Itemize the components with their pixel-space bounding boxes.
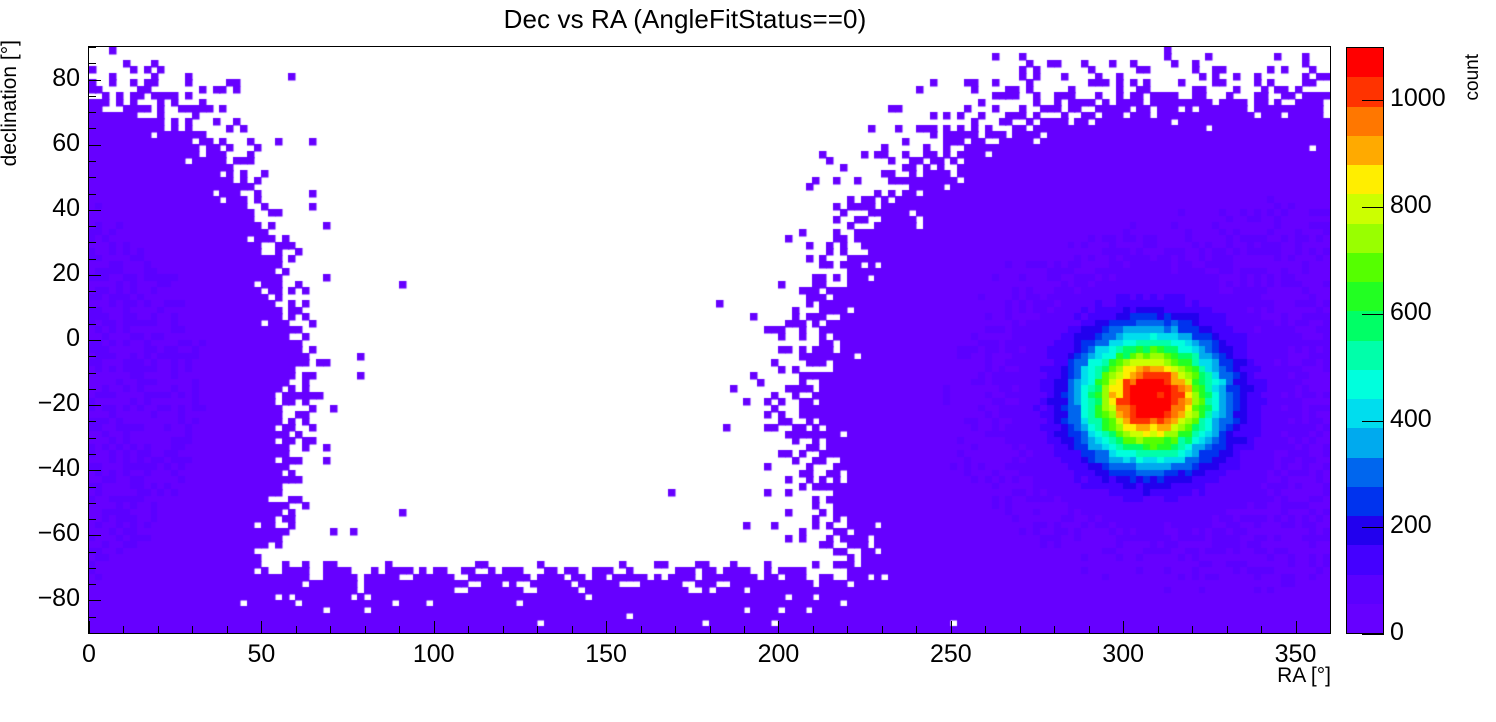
- x-tick-120: [503, 626, 504, 633]
- colorbar-band-15: [1347, 165, 1383, 194]
- colorbar-title: count: [1462, 54, 1484, 100]
- colorbar-tick-1000: [1362, 100, 1384, 101]
- y-tick-80: [89, 80, 101, 81]
- x-tick-100: [434, 621, 435, 633]
- y-tick--80: [89, 600, 101, 601]
- x-tick-0: [89, 621, 90, 633]
- x-tick-label-300: 300: [1063, 640, 1183, 669]
- x-tick-60: [296, 626, 297, 633]
- plot-frame: [88, 46, 1331, 634]
- x-tick-70: [330, 626, 331, 633]
- x-tick-160: [641, 626, 642, 633]
- y-tick-label--80: −80: [0, 584, 80, 613]
- x-tick-10: [123, 626, 124, 633]
- y-tick-55: [89, 161, 96, 162]
- x-tick-130: [537, 626, 538, 633]
- y-tick--20: [89, 405, 101, 406]
- x-tick-360: [1330, 626, 1331, 633]
- x-tick-250: [951, 621, 952, 633]
- x-tick-30: [192, 626, 193, 633]
- plot-root: Dec vs RA (AngleFitStatus==0) RA [°] dec…: [0, 0, 1496, 722]
- colorbar-tick-label-1000: 1000: [1390, 84, 1446, 113]
- x-tick-200: [778, 621, 779, 633]
- y-tick--65: [89, 552, 96, 553]
- y-tick--5: [89, 356, 96, 357]
- colorbar-band-16: [1347, 136, 1383, 165]
- x-tick-label-200: 200: [718, 640, 838, 669]
- colorbar-band-18: [1347, 77, 1383, 106]
- colorbar-tick-label-400: 400: [1390, 405, 1432, 434]
- y-tick--75: [89, 584, 96, 585]
- colorbar-band-11: [1347, 282, 1383, 311]
- x-tick-230: [882, 626, 883, 633]
- colorbar-band-0: [1347, 604, 1383, 633]
- y-tick-45: [89, 194, 96, 195]
- colorbar-band-4: [1347, 487, 1383, 516]
- x-tick-label-50: 50: [201, 640, 321, 669]
- x-tick-240: [916, 626, 917, 633]
- y-tick--15: [89, 389, 96, 390]
- x-tick-20: [158, 626, 159, 633]
- x-tick-80: [365, 626, 366, 633]
- y-tick-40: [89, 210, 101, 211]
- colorbar-tick-label-600: 600: [1390, 298, 1432, 327]
- colorbar-tick-label-800: 800: [1390, 191, 1432, 220]
- y-tick-60: [89, 145, 101, 146]
- y-tick-label--40: −40: [0, 454, 80, 483]
- x-tick-140: [572, 626, 573, 633]
- x-tick-190: [744, 626, 745, 633]
- x-tick-340: [1261, 626, 1262, 633]
- y-tick-10: [89, 307, 96, 308]
- y-tick-30: [89, 242, 96, 243]
- x-tick-210: [813, 626, 814, 633]
- colorbar-band-8: [1347, 370, 1383, 399]
- y-tick-label--20: −20: [0, 389, 80, 418]
- colorbar-band-7: [1347, 399, 1383, 428]
- y-tick-label-60: 60: [0, 129, 80, 158]
- x-tick-50: [261, 621, 262, 633]
- x-tick-180: [710, 626, 711, 633]
- colorbar-band-5: [1347, 458, 1383, 487]
- y-tick--85: [89, 617, 96, 618]
- y-tick-90: [89, 47, 96, 48]
- x-tick-label-100: 100: [374, 640, 494, 669]
- y-tick--10: [89, 373, 96, 374]
- colorbar-band-2: [1347, 545, 1383, 574]
- x-tick-330: [1227, 626, 1228, 633]
- colorbar-tick-200: [1362, 527, 1384, 528]
- y-tick-label-80: 80: [0, 64, 80, 93]
- colorbar-band-9: [1347, 341, 1383, 370]
- x-tick-170: [675, 626, 676, 633]
- y-tick-85: [89, 63, 96, 64]
- y-tick-20: [89, 275, 101, 276]
- y-tick-label--60: −60: [0, 519, 80, 548]
- y-tick--50: [89, 503, 96, 504]
- x-tick-label-350: 350: [1236, 640, 1356, 669]
- colorbar-tick-600: [1362, 314, 1384, 315]
- y-tick-75: [89, 96, 96, 97]
- colorbar-tick-0: [1362, 634, 1384, 635]
- y-tick--45: [89, 487, 96, 488]
- y-tick--30: [89, 438, 96, 439]
- colorbar-tick-400: [1362, 421, 1384, 422]
- y-tick-35: [89, 226, 96, 227]
- y-tick-5: [89, 324, 96, 325]
- colorbar-tick-label-200: 200: [1390, 511, 1432, 540]
- y-tick-label-40: 40: [0, 194, 80, 223]
- y-tick--25: [89, 421, 96, 422]
- y-tick-70: [89, 112, 96, 113]
- colorbar-band-3: [1347, 516, 1383, 545]
- colorbar-band-19: [1347, 48, 1383, 77]
- y-tick--35: [89, 454, 96, 455]
- page-title: Dec vs RA (AngleFitStatus==0): [0, 4, 1370, 35]
- histogram-canvas: [89, 47, 1330, 633]
- colorbar-tick-label-0: 0: [1390, 618, 1404, 647]
- y-tick--40: [89, 470, 101, 471]
- y-tick-label-0: 0: [0, 324, 80, 353]
- colorbar-band-1: [1347, 575, 1383, 604]
- x-tick-260: [985, 626, 986, 633]
- y-tick-15: [89, 291, 96, 292]
- y-tick-50: [89, 177, 96, 178]
- colorbar-band-12: [1347, 253, 1383, 282]
- x-tick-300: [1123, 621, 1124, 633]
- x-tick-270: [1020, 626, 1021, 633]
- colorbar-band-10: [1347, 311, 1383, 340]
- y-tick--60: [89, 535, 101, 536]
- y-tick-65: [89, 128, 96, 129]
- colorbar-band-17: [1347, 107, 1383, 136]
- x-tick-290: [1089, 626, 1090, 633]
- x-tick-110: [468, 626, 469, 633]
- colorbar-band-6: [1347, 428, 1383, 457]
- y-tick-25: [89, 259, 96, 260]
- x-tick-310: [1158, 626, 1159, 633]
- x-tick-label-0: 0: [29, 640, 149, 669]
- colorbar: [1346, 47, 1384, 634]
- x-tick-320: [1192, 626, 1193, 633]
- colorbar-band-14: [1347, 194, 1383, 223]
- x-tick-40: [227, 626, 228, 633]
- x-tick-label-250: 250: [891, 640, 1011, 669]
- y-tick-0: [89, 340, 101, 341]
- y-tick--90: [89, 633, 96, 634]
- colorbar-band-13: [1347, 224, 1383, 253]
- y-tick--55: [89, 519, 96, 520]
- x-tick-150: [606, 621, 607, 633]
- x-tick-220: [847, 626, 848, 633]
- x-tick-label-150: 150: [546, 640, 666, 669]
- x-tick-280: [1054, 626, 1055, 633]
- y-tick-label-20: 20: [0, 259, 80, 288]
- x-tick-350: [1296, 621, 1297, 633]
- y-tick--70: [89, 568, 96, 569]
- colorbar-tick-800: [1362, 207, 1384, 208]
- x-tick-90: [399, 626, 400, 633]
